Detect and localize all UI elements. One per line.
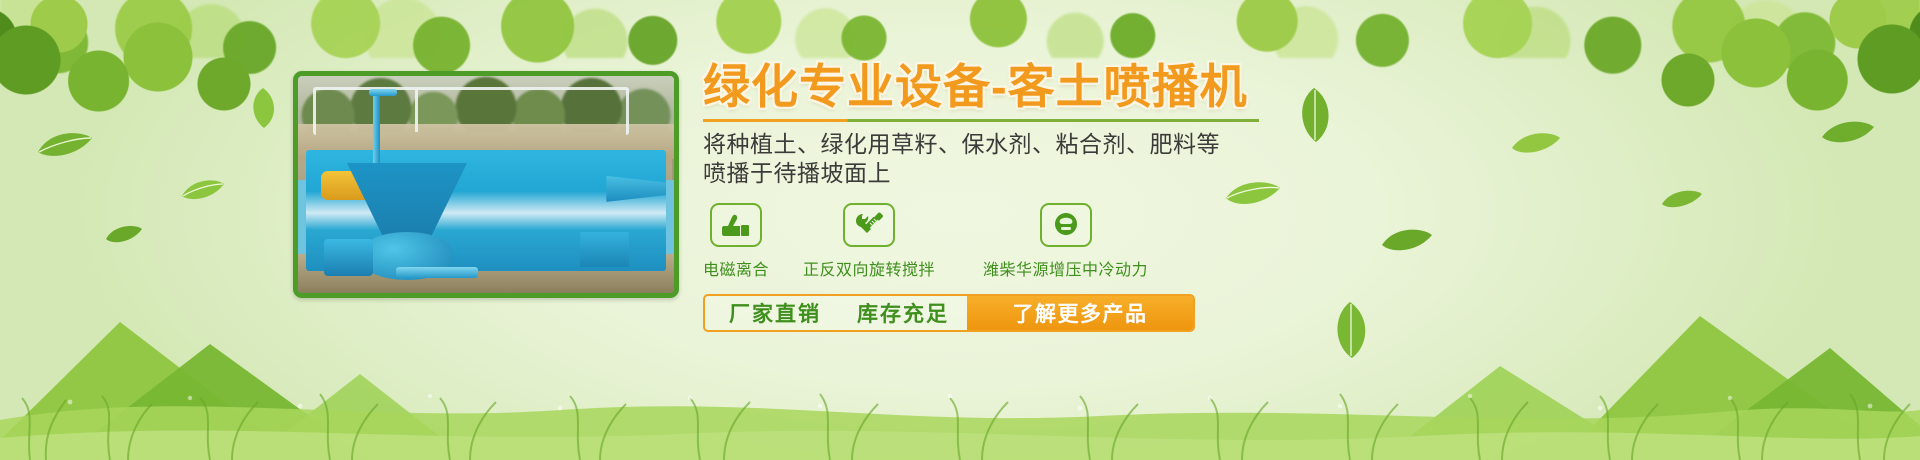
- feature-item-engine: 潍柴华源增压中冷动力: [983, 203, 1148, 280]
- photo-machine-box: [580, 232, 629, 267]
- photo-machine-motor: [324, 239, 373, 276]
- feature-item-mixing: 正反双向旋转搅拌: [803, 203, 935, 280]
- photo-machine-mast-top: [369, 89, 397, 96]
- floating-leaf-icon: [36, 128, 94, 162]
- subtitle-line-1: 将种植土、绿化用草籽、保水剂、粘合剂、肥料等: [703, 130, 1863, 159]
- promo-banner: 绿化专业设备-客土喷播机 将种植土、绿化用草籽、保水剂、粘合剂、肥料等 喷播于待…: [0, 0, 1920, 460]
- feature-label: 潍柴华源增压中冷动力: [983, 256, 1148, 280]
- tag-direct-sales: 厂家直销: [705, 296, 839, 330]
- floating-leaf-icon: [104, 222, 144, 246]
- tag-in-stock: 库存充足: [839, 296, 967, 330]
- banner-content: 绿化专业设备-客土喷播机 将种植土、绿化用草籽、保水剂、粘合剂、肥料等 喷播于待…: [703, 62, 1863, 332]
- learn-more-button[interactable]: 了解更多产品: [967, 296, 1193, 330]
- photo-machine-mast: [373, 89, 380, 167]
- page-title: 绿化专业设备-客土喷播机: [703, 62, 1863, 112]
- wrench-screwdriver-icon: [843, 203, 895, 247]
- grass-decoration: [0, 340, 1920, 460]
- product-photo[interactable]: [293, 71, 679, 298]
- subtitle-line-2: 喷播于待播坡面上: [703, 159, 1863, 188]
- title-divider: [703, 119, 1259, 122]
- feature-list: 电磁离合 正反双向旋转搅拌: [703, 203, 1863, 280]
- feature-label: 正反双向旋转搅拌: [803, 256, 935, 280]
- photo-machine-pipe: [396, 267, 479, 278]
- foliage-back-layer: [0, 0, 1920, 58]
- floating-leaf-icon: [180, 176, 226, 204]
- photo-machine-rail: [313, 87, 629, 135]
- floating-leaf-icon: [246, 86, 280, 130]
- engine-gear-icon: [1040, 203, 1092, 247]
- banner-subtitle: 将种植土、绿化用草籽、保水剂、粘合剂、肥料等 喷播于待播坡面上: [703, 130, 1863, 189]
- clutch-hand-icon: [710, 203, 762, 247]
- feature-item-clutch: 电磁离合: [703, 203, 769, 280]
- feature-label: 电磁离合: [703, 256, 769, 280]
- cta-button-group: 厂家直销 库存充足 了解更多产品: [703, 294, 1195, 332]
- foliage-cluster-left: [0, 0, 290, 118]
